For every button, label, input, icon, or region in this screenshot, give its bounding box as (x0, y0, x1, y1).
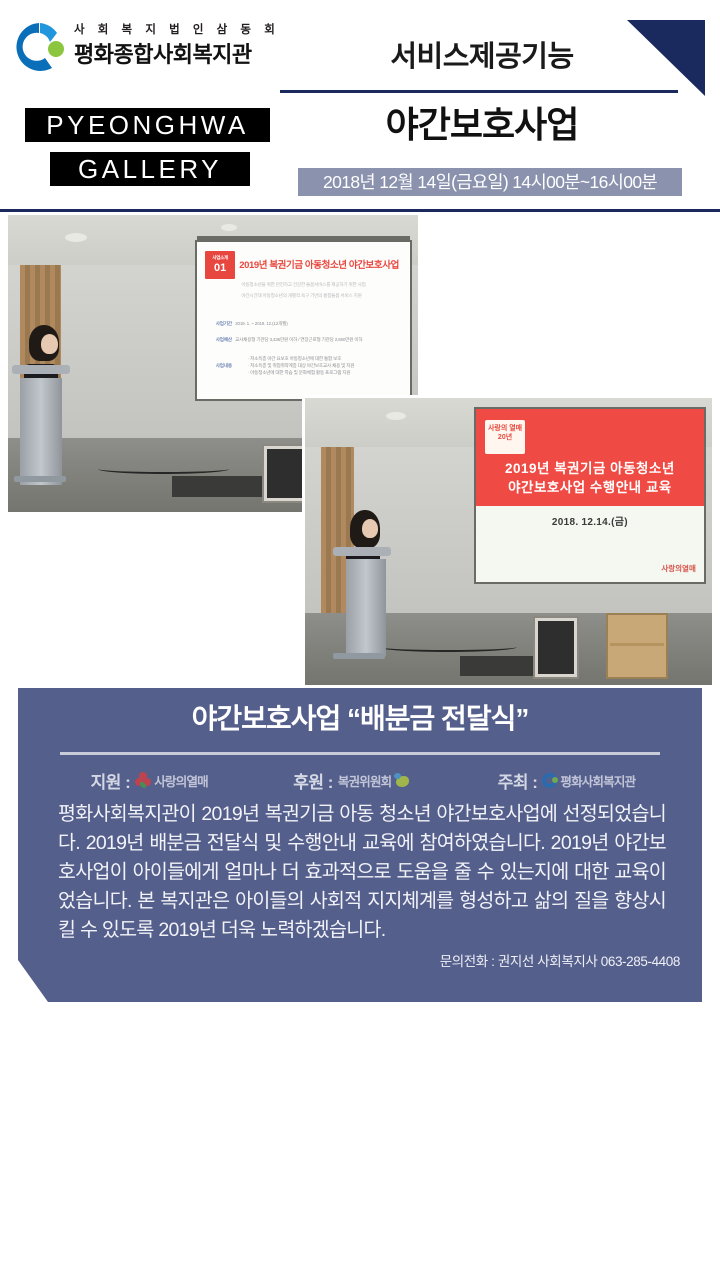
projection-screen: 사랑의 열매 20년 2019년 복권기금 아동청소년 야간보호사업 수행안내 … (476, 409, 704, 581)
sponsor-funding: 후원 : 복권위원회 (293, 768, 412, 793)
podium (20, 378, 62, 485)
speaker-head (41, 334, 58, 354)
poster-header: 사 회 복 지 법 인 삼 동 회 평화종합사회복지관 PYEONGHWA GA… (0, 0, 720, 210)
podium-base (14, 476, 66, 482)
screen-mount-bar (197, 236, 410, 242)
sponsor-support: 지원 : 사랑의열매 (91, 768, 208, 793)
slide-badge-number: 01 (205, 262, 235, 275)
cart-shelf (610, 643, 664, 646)
panel-body-text: 평화사회복지관이 2019년 복권기금 아동 청소년 야간보호사업에 선정되었습… (58, 800, 666, 945)
slide-row-key: 사업내용 (216, 363, 232, 368)
pyeonghwa-logo-icon: 평화사회복지관 (542, 771, 635, 790)
event-datetime-bar: 2018년 12월 14일(금요일) 14시00분~16시00분 (298, 168, 682, 196)
sponsor-logo-name: 복권위원회 (338, 771, 392, 790)
rack-interior (267, 449, 303, 498)
panel-title: 야간보호사업 “배분금 전달식” (18, 700, 702, 738)
fruit-of-love-stamp-icon: 사랑의 열매 20년 (485, 420, 525, 454)
sponsor-logo-name: 평화사회복지관 (560, 771, 635, 790)
podium-top (12, 365, 70, 374)
ceiling-light (65, 233, 87, 242)
podium-top (333, 547, 391, 556)
sponsor-label: 지원 : (91, 768, 131, 793)
header-divider (280, 90, 678, 93)
sponsor-label: 주최 : (498, 768, 538, 793)
slide-badge-label: 사업소개 (205, 254, 235, 262)
photo-lecture-room-title-slide: 사랑의 열매 20년 2019년 복권기금 아동청소년 야간보호사업 수행안내 … (302, 395, 712, 685)
ceiling-light (221, 224, 237, 231)
organization-names: 사 회 복 지 법 인 삼 동 회 평화종합사회복지관 (74, 22, 280, 69)
slide-date: 2018. 12.14.(금) (476, 513, 704, 528)
sponsor-host: 주최 : 평화사회복지관 (498, 768, 636, 793)
projection-screen: 사업소개 01 2019년 복권기금 아동청소년 야간보호사업 아동청소년을 위… (197, 242, 410, 399)
gallery-bar-pyeonghwa: PYEONGHWA (25, 108, 270, 142)
slide-subtext-2: 야간시간대 아동청소년의 개별적 욕구 기반의 통합돌봄 서비스 지원 (241, 292, 361, 299)
cable (378, 642, 516, 652)
slide-title-line1: 2019년 복권기금 아동청소년 (476, 459, 704, 478)
slide-row-value: 교사채용형 기관당 3,436만원 이하 / 연장근로형 기관당 2,650만원… (235, 337, 362, 342)
slide-title: 2019년 복권기금 아동청소년 야간보호사업 (239, 257, 399, 271)
slide-row-budget: 사업예산 교사채용형 기관당 3,436만원 이하 / 연장근로형 기관당 2,… (216, 336, 363, 343)
slide-row-value: 2019. 1. ~ 2019. 12.(12개월) (235, 321, 287, 326)
photo-collage: 사업소개 01 2019년 복권기금 아동청소년 야간보호사업 아동청소년을 위… (0, 215, 720, 685)
panel-contact-info: 문의전화 : 권지선 사회복지사 063-285-4408 (440, 950, 680, 970)
slide-row-content: 사업내용 (216, 355, 232, 369)
organization-logo-block: 사 회 복 지 법 인 삼 동 회 평화종합사회복지관 (12, 18, 282, 80)
podium-base (333, 653, 385, 659)
slide-row-period: 사업기간 2019. 1. ~ 2019. 12.(12개월) (216, 320, 288, 327)
org-sub-name: 사 회 복 지 법 인 삼 동 회 (74, 22, 280, 38)
slide-sponsor-logo: 사랑의열매 (661, 563, 696, 574)
slide-subtext-1: 아동청소년을 위한 안전하고 건강한 돌봄서비스를 제공하기 위한 사업 (241, 281, 365, 288)
slide-row-key: 사업기간 (216, 321, 232, 326)
sponsor-logo-name: 사랑의열매 (154, 771, 208, 790)
sponsor-label: 후원 : (293, 768, 333, 793)
header-bottom-divider (0, 209, 720, 212)
fruit-of-love-mark-icon (135, 772, 151, 788)
podium (346, 559, 386, 657)
gallery-bar-gallery: GALLERY (50, 152, 250, 186)
pyeonghwa-mark-icon (542, 773, 557, 788)
equipment-cart (606, 613, 668, 679)
rack-interior (538, 621, 574, 674)
slide-row-content-value: · 저소득층 야간 요보호 아동청소년에 대한 통합 보호 · 저소득층 및 취… (248, 355, 355, 376)
panel-divider (60, 752, 660, 755)
page-title: 서비스제공기능 (282, 38, 682, 76)
slide-section-badge: 사업소개 01 (205, 251, 235, 279)
speaker-head (362, 519, 378, 538)
page-subtitle: 야간보호사업 (282, 100, 682, 150)
poster-page: 사 회 복 지 법 인 삼 동 회 평화종합사회복지관 PYEONGHWA GA… (0, 0, 720, 1280)
floor-strip (172, 476, 262, 497)
sponsor-row: 지원 : 사랑의열매 후원 : 복권위원회 주최 : 평화사회복지관 (48, 760, 678, 800)
room-scene: 사랑의 열매 20년 2019년 복권기금 아동청소년 야간보호사업 수행안내 … (305, 398, 712, 685)
fruit-of-love-icon: 사랑의열매 (135, 771, 208, 790)
pyeonghwa-logo-icon (12, 20, 70, 76)
org-main-name: 평화종합사회복지관 (74, 41, 280, 69)
slide-title-line2: 야간보호사업 수행안내 교육 (476, 478, 704, 497)
description-panel: 야간보호사업 “배분금 전달식” 지원 : 사랑의열매 후원 : 복권위원회 주… (18, 688, 702, 1002)
lottery-commission-icon: 복권위원회 (338, 771, 413, 790)
equipment-rack (533, 616, 579, 679)
slide-row-key: 사업예산 (216, 337, 232, 342)
lottery-commission-mark-icon (394, 773, 412, 788)
